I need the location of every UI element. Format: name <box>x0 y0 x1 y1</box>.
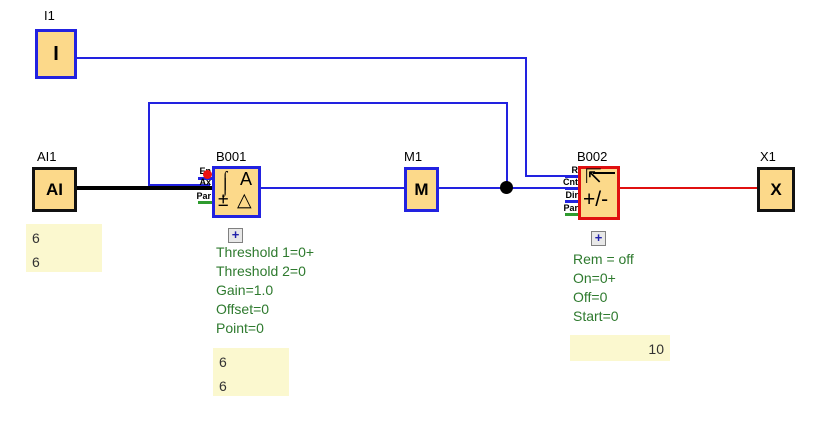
b002-plusminus-icon: +/- <box>583 189 608 210</box>
block-i1[interactable]: I <box>35 29 77 79</box>
b001-param-4: Point=0 <box>216 319 314 338</box>
block-b001[interactable]: ⌠ ⌡ A ± △ <box>212 166 261 218</box>
value-box-b002: 10 <box>570 335 670 361</box>
pin-label-b002-par: Par <box>547 204 578 213</box>
block-ai1-symbol: AI <box>46 181 63 198</box>
b001-error-dot <box>203 170 212 179</box>
wire-feedback-vertical-right <box>506 102 508 187</box>
b001-param-2: Gain=1.0 <box>216 281 314 300</box>
b001-letter-a-icon: A <box>240 170 252 188</box>
value-box-ai1: 6 6 <box>26 224 102 272</box>
pin-stub-b002-par <box>565 213 579 216</box>
b001-param-1: Threshold 2=0 <box>216 262 314 281</box>
block-label-m1: M1 <box>404 150 422 163</box>
value-b001-1: 6 <box>219 374 283 398</box>
b001-triangle-icon: △ <box>237 191 252 210</box>
b002-parameter-list: Rem = off On=0+ Off=0 Start=0 <box>573 250 634 326</box>
block-b001-glyph: ⌠ ⌡ A ± △ <box>215 169 258 215</box>
block-label-x1: X1 <box>760 150 776 163</box>
pin-stub-b001-par <box>198 201 213 204</box>
pin-label-b001-par: Par <box>180 192 211 201</box>
block-i1-symbol: I <box>53 44 59 64</box>
b002-param-0: Rem = off <box>573 250 634 269</box>
b001-expand-button[interactable]: + <box>228 228 243 243</box>
pin-label-b002-dir: Dir <box>548 191 578 200</box>
block-m1[interactable]: M <box>404 167 439 212</box>
pin-label-b002-r: R <box>550 166 578 175</box>
block-b002[interactable]: ⇱ +/- <box>578 166 620 220</box>
b001-plusminus-icon: ± <box>218 191 228 210</box>
b002-param-3: Start=0 <box>573 307 634 326</box>
wire-b001-to-m1 <box>261 187 404 189</box>
block-label-b002: B002 <box>577 150 607 163</box>
b002-edge-icon: ⇱ <box>585 167 602 187</box>
block-b002-glyph: ⇱ +/- <box>581 169 617 217</box>
wire-feedback-vertical-left <box>148 102 150 186</box>
block-m1-symbol: M <box>414 181 428 198</box>
block-x1-symbol: X <box>770 181 781 198</box>
b001-param-3: Offset=0 <box>216 300 314 319</box>
wire-i1-to-b002-vertical <box>525 57 527 177</box>
b001-param-0: Threshold 1=0+ <box>216 243 314 262</box>
b002-param-1: On=0+ <box>573 269 634 288</box>
block-ai1[interactable]: AI <box>32 167 77 212</box>
pin-stub-b001-ax <box>198 186 213 189</box>
fbd-canvas: I1 I AI1 AI 6 6 B001 En Ax Par ⌠ ⌡ A ± △… <box>0 0 823 438</box>
block-label-ai1: AI1 <box>37 150 57 163</box>
value-b002-0: 10 <box>576 337 664 361</box>
value-ai1-0: 6 <box>32 226 96 250</box>
b002-expand-button[interactable]: + <box>591 231 606 246</box>
wire-b002-to-x1 <box>620 187 757 189</box>
wire-junction-dot <box>500 181 513 194</box>
block-label-i1: I1 <box>44 9 55 22</box>
pin-label-b002-cnt: Cnt <box>548 178 578 187</box>
block-label-b001: B001 <box>216 150 246 163</box>
b002-param-2: Off=0 <box>573 288 634 307</box>
b001-parameter-list: Threshold 1=0+ Threshold 2=0 Gain=1.0 Of… <box>216 243 314 338</box>
block-x1[interactable]: X <box>757 167 795 212</box>
value-box-b001: 6 6 <box>213 348 289 396</box>
value-b001-0: 6 <box>219 350 283 374</box>
value-ai1-1: 6 <box>32 250 96 274</box>
b002-overline-icon <box>593 172 615 174</box>
wire-feedback-horizontal-top <box>148 102 508 104</box>
wire-i1-to-b002-horizontal-top <box>77 57 527 59</box>
